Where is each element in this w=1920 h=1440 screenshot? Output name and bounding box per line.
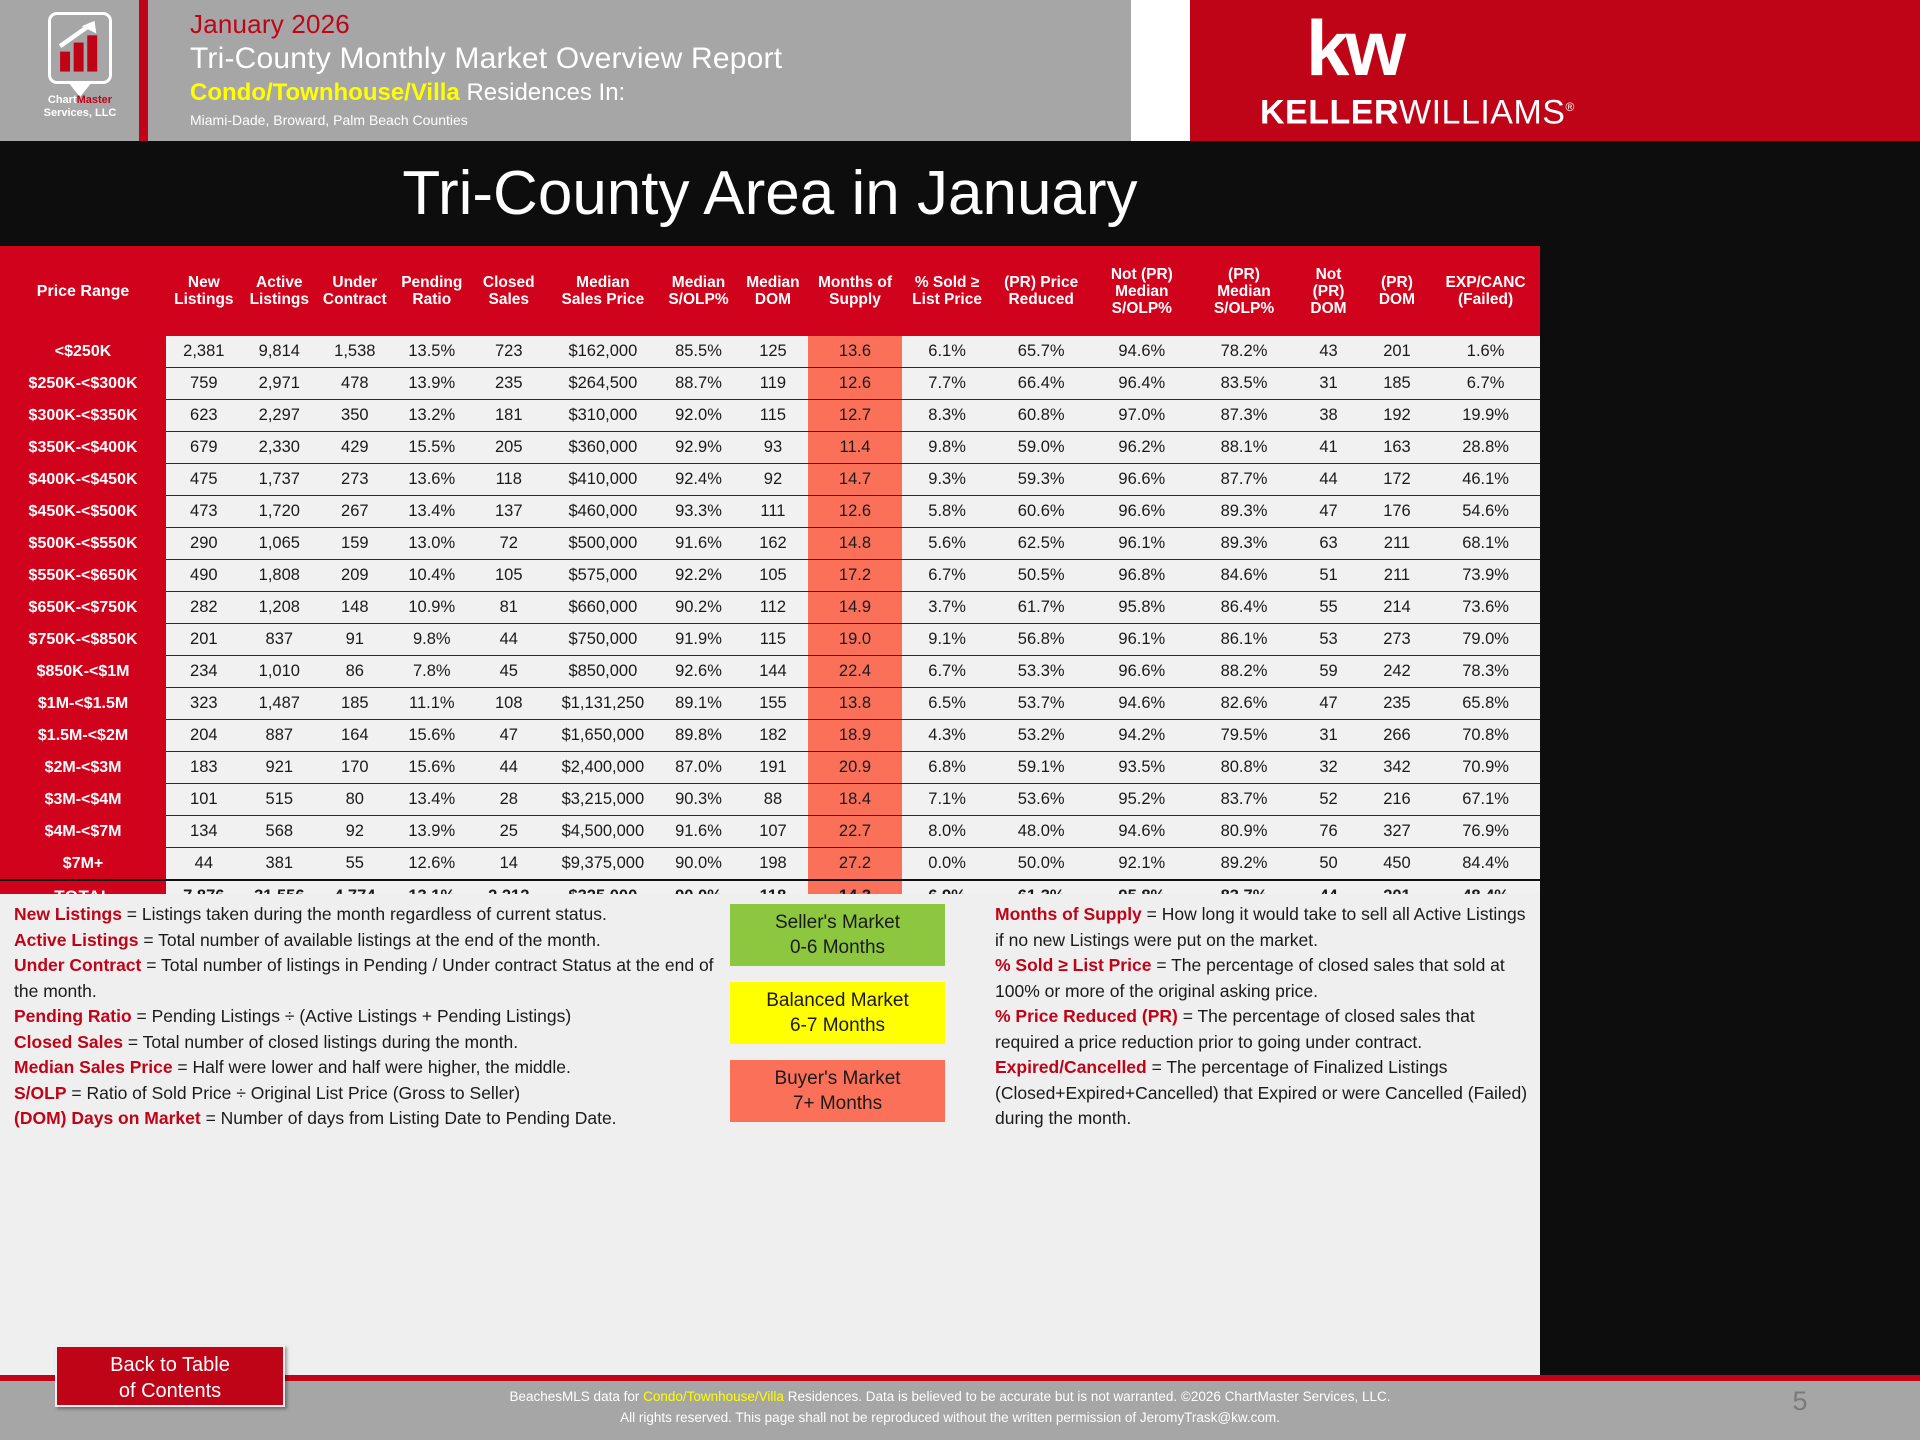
data-cell: 43 bbox=[1294, 336, 1362, 368]
hdr-l1: (PR) Price bbox=[1004, 274, 1078, 291]
legend-left-term: New Listings bbox=[14, 904, 122, 924]
table-row: $3M-<$4M1015158013.4%28$3,215,00090.3%88… bbox=[0, 784, 1540, 816]
data-cell: 350 bbox=[317, 400, 392, 432]
hdr-l1: % Sold ≥ bbox=[915, 274, 979, 291]
table-row: $250K-<$300K7592,97147813.9%235$264,5008… bbox=[0, 368, 1540, 400]
data-cell: 31 bbox=[1294, 720, 1362, 752]
legend-left-item: Under Contract = Total number of listing… bbox=[14, 953, 714, 1004]
data-cell: 13.9% bbox=[393, 816, 472, 848]
data-cell: 13.0% bbox=[393, 528, 472, 560]
price-range-cell: $850K-<$1M bbox=[0, 656, 166, 688]
data-cell: 88.1% bbox=[1194, 432, 1295, 464]
months-of-supply-cell: 22.7 bbox=[808, 816, 902, 848]
data-cell: 89.3% bbox=[1194, 528, 1295, 560]
data-cell: 83.7% bbox=[1194, 784, 1295, 816]
data-cell: 759 bbox=[166, 368, 241, 400]
data-cell: 87.0% bbox=[659, 752, 738, 784]
months-of-supply-cell: 17.2 bbox=[808, 560, 902, 592]
data-cell: 80 bbox=[317, 784, 392, 816]
data-cell: 5.8% bbox=[902, 496, 993, 528]
data-cell: 115 bbox=[738, 624, 808, 656]
kw-monogram: kw bbox=[1306, 8, 1402, 88]
data-cell: 10.9% bbox=[393, 592, 472, 624]
price-range-cell: $350K-<$400K bbox=[0, 432, 166, 464]
data-cell: 0.0% bbox=[902, 848, 993, 881]
hdr-l1: (PR) bbox=[1381, 274, 1413, 291]
data-cell: 73.6% bbox=[1431, 592, 1540, 624]
col-header-exp-canc[interactable]: EXP/CANC(Failed) bbox=[1431, 246, 1540, 336]
price-range-cell: $550K-<$650K bbox=[0, 560, 166, 592]
data-cell: 70.8% bbox=[1431, 720, 1540, 752]
legend-definitions-left: New Listings = Listings taken during the… bbox=[14, 902, 714, 1132]
hdr-l1: Under bbox=[332, 274, 377, 291]
data-cell: 473 bbox=[166, 496, 241, 528]
data-cell: 6.7% bbox=[902, 560, 993, 592]
data-cell: 1,208 bbox=[242, 592, 317, 624]
table-row: $350K-<$400K6792,33042915.5%205$360,0009… bbox=[0, 432, 1540, 464]
data-cell: 88.7% bbox=[659, 368, 738, 400]
price-range-cell: $2M-<$3M bbox=[0, 752, 166, 784]
data-cell: 10.4% bbox=[393, 560, 472, 592]
table-row: $4M-<$7M1345689213.9%25$4,500,00091.6%10… bbox=[0, 816, 1540, 848]
data-cell: 1,720 bbox=[242, 496, 317, 528]
data-cell: 211 bbox=[1363, 560, 1431, 592]
data-cell: $575,000 bbox=[547, 560, 660, 592]
data-cell: $1,131,250 bbox=[547, 688, 660, 720]
banner-title: Tri-County Area in January bbox=[0, 141, 1540, 246]
data-cell: 3.7% bbox=[902, 592, 993, 624]
table-row: $500K-<$550K2901,06515913.0%72$500,00091… bbox=[0, 528, 1540, 560]
table-row: $400K-<$450K4751,73727313.6%118$410,0009… bbox=[0, 464, 1540, 496]
table-row: $7M+443815512.6%14$9,375,00090.0%19827.2… bbox=[0, 848, 1540, 881]
data-cell: 92.4% bbox=[659, 464, 738, 496]
data-cell: 94.2% bbox=[1090, 720, 1194, 752]
data-cell: 78.3% bbox=[1431, 656, 1540, 688]
hdr-l1: Median bbox=[746, 274, 799, 291]
data-cell: 60.8% bbox=[992, 400, 1090, 432]
page-number: 5 bbox=[1770, 1386, 1830, 1417]
data-cell: 216 bbox=[1363, 784, 1431, 816]
balanced-market-box: Balanced Market 6-7 Months bbox=[730, 982, 945, 1044]
legend-left-term: (DOM) Days on Market bbox=[14, 1108, 201, 1128]
data-cell: 185 bbox=[1363, 368, 1431, 400]
hdr-l1: (PR) bbox=[1228, 266, 1260, 283]
data-cell: 89.8% bbox=[659, 720, 738, 752]
data-cell: 82.6% bbox=[1194, 688, 1295, 720]
data-cell: 92.9% bbox=[659, 432, 738, 464]
data-cell: 164 bbox=[317, 720, 392, 752]
data-cell: 1,065 bbox=[242, 528, 317, 560]
months-of-supply-cell: 12.7 bbox=[808, 400, 902, 432]
hdr-l2: Sales Price bbox=[562, 291, 645, 308]
data-cell: 205 bbox=[471, 432, 546, 464]
data-cell: $9,375,000 bbox=[547, 848, 660, 881]
report-subtitle: Condo/Townhouse/Villa Residences In: bbox=[190, 78, 782, 108]
data-cell: 89.3% bbox=[1194, 496, 1295, 528]
data-cell: 13.9% bbox=[393, 368, 472, 400]
data-cell: 86.1% bbox=[1194, 624, 1295, 656]
price-range-cell: $4M-<$7M bbox=[0, 816, 166, 848]
data-cell: 95.8% bbox=[1090, 592, 1194, 624]
hdr-l2: (PR) bbox=[1313, 283, 1345, 300]
data-cell: 6.5% bbox=[902, 688, 993, 720]
hdr-l2: Listings bbox=[174, 291, 233, 308]
data-cell: 73.9% bbox=[1431, 560, 1540, 592]
data-cell: 13.4% bbox=[393, 784, 472, 816]
data-cell: 84.6% bbox=[1194, 560, 1295, 592]
data-cell: 105 bbox=[471, 560, 546, 592]
data-cell: 8.0% bbox=[902, 816, 993, 848]
data-cell: 97.0% bbox=[1090, 400, 1194, 432]
data-cell: 723 bbox=[471, 336, 546, 368]
footer-disclaimer: BeachesMLS data for Condo/Townhouse/Vill… bbox=[320, 1386, 1580, 1428]
data-cell: 134 bbox=[166, 816, 241, 848]
legend-left-definition: = Half were lower and half were higher, … bbox=[173, 1057, 571, 1077]
price-range-cell: $3M-<$4M bbox=[0, 784, 166, 816]
page-header: ChartMaster Services, LLC January 2026 T… bbox=[0, 0, 1920, 141]
col-header-price-range[interactable]: Price Range bbox=[0, 246, 166, 336]
data-cell: 53.2% bbox=[992, 720, 1090, 752]
hdr-l2: Listings bbox=[250, 291, 309, 308]
months-of-supply-cell: 13.8 bbox=[808, 688, 902, 720]
data-cell: 4.3% bbox=[902, 720, 993, 752]
data-cell: 92.0% bbox=[659, 400, 738, 432]
sellers-market-label: Seller's Market bbox=[730, 910, 945, 935]
col-header-pr-median-solp[interactable]: (PR)MedianS/OLP% bbox=[1194, 246, 1295, 336]
data-cell: 44 bbox=[1294, 464, 1362, 496]
data-cell: 137 bbox=[471, 496, 546, 528]
data-cell: 65.7% bbox=[992, 336, 1090, 368]
legend-right-item: % Sold ≥ List Price = The percentage of … bbox=[995, 953, 1535, 1004]
data-cell: 679 bbox=[166, 432, 241, 464]
table-body: <$250K2,3819,8141,53813.5%723$162,00085.… bbox=[0, 336, 1540, 912]
kw-wordmark: KELLERWILLIAMS® bbox=[1260, 88, 1575, 131]
table-row: $750K-<$850K201837919.8%44$750,00091.9%1… bbox=[0, 624, 1540, 656]
legend-right-term: % Price Reduced (PR) bbox=[995, 1006, 1178, 1026]
hdr-l1: Months of bbox=[818, 274, 892, 291]
subtitle-rest: Residences In: bbox=[460, 79, 625, 106]
data-cell: 1,538 bbox=[317, 336, 392, 368]
data-cell: 9,814 bbox=[242, 336, 317, 368]
table-row: $850K-<$1M2341,010867.8%45$850,00092.6%1… bbox=[0, 656, 1540, 688]
data-cell: 47 bbox=[471, 720, 546, 752]
data-cell: 88 bbox=[738, 784, 808, 816]
data-cell: 201 bbox=[166, 624, 241, 656]
data-cell: 887 bbox=[242, 720, 317, 752]
data-cell: 90.2% bbox=[659, 592, 738, 624]
kw-williams: WILLIAMS bbox=[1399, 93, 1565, 131]
data-cell: 234 bbox=[166, 656, 241, 688]
col-header-under-contract[interactable]: UnderContract bbox=[317, 246, 392, 336]
legend-left-definition: = Ratio of Sold Price ÷ Original List Pr… bbox=[67, 1083, 521, 1103]
col-header-median-sales-price[interactable]: MedianSales Price bbox=[547, 246, 660, 336]
data-cell: 13.6% bbox=[393, 464, 472, 496]
col-header-median-solp[interactable]: MedianS/OLP% bbox=[659, 246, 738, 336]
data-cell: 201 bbox=[1363, 336, 1431, 368]
data-cell: 91.9% bbox=[659, 624, 738, 656]
data-cell: 381 bbox=[242, 848, 317, 881]
table-row: $550K-<$650K4901,80820910.4%105$575,0009… bbox=[0, 560, 1540, 592]
data-cell: $660,000 bbox=[547, 592, 660, 624]
col-header-active-listings[interactable]: ActiveListings bbox=[242, 246, 317, 336]
legend-left-term: S/OLP bbox=[14, 1083, 67, 1103]
back-to-table-of-contents-button[interactable]: Back to Table of Contents bbox=[55, 1345, 285, 1407]
legend-left-item: Pending Ratio = Pending Listings ÷ (Acti… bbox=[14, 1004, 714, 1030]
table-row: $1.5M-<$2M20488716415.6%47$1,650,00089.8… bbox=[0, 720, 1540, 752]
legend-left-item: Closed Sales = Total number of closed li… bbox=[14, 1030, 714, 1056]
data-cell: 91 bbox=[317, 624, 392, 656]
data-cell: $460,000 bbox=[547, 496, 660, 528]
col-header-not-pr-dom[interactable]: Not(PR)DOM bbox=[1294, 246, 1362, 336]
data-cell: 211 bbox=[1363, 528, 1431, 560]
legend-left-term: Median Sales Price bbox=[14, 1057, 173, 1077]
counties-line: Miami-Dade, Broward, Palm Beach Counties bbox=[190, 108, 782, 130]
col-header-pr-dom[interactable]: (PR)DOM bbox=[1363, 246, 1431, 336]
data-cell: 38 bbox=[1294, 400, 1362, 432]
data-cell: 11.1% bbox=[393, 688, 472, 720]
logo-wordmark: ChartMaster Services, LLC bbox=[26, 94, 134, 120]
data-cell: 25 bbox=[471, 816, 546, 848]
data-cell: 108 bbox=[471, 688, 546, 720]
footer-pre: BeachesMLS data for bbox=[510, 1389, 644, 1404]
data-cell: 181 bbox=[471, 400, 546, 432]
price-range-cell: $300K-<$350K bbox=[0, 400, 166, 432]
data-cell: 107 bbox=[738, 816, 808, 848]
data-cell: 568 bbox=[242, 816, 317, 848]
data-cell: 13.2% bbox=[393, 400, 472, 432]
data-cell: 118 bbox=[471, 464, 546, 496]
legend-left-definition: = Number of days from Listing Date to Pe… bbox=[201, 1108, 617, 1128]
price-range-cell: $400K-<$450K bbox=[0, 464, 166, 496]
logo-word-master: Master bbox=[77, 94, 112, 106]
data-cell: 81 bbox=[471, 592, 546, 624]
months-of-supply-cell: 11.4 bbox=[808, 432, 902, 464]
data-cell: 45 bbox=[471, 656, 546, 688]
months-of-supply-cell: 20.9 bbox=[808, 752, 902, 784]
data-cell: 46.1% bbox=[1431, 464, 1540, 496]
data-cell: 93.5% bbox=[1090, 752, 1194, 784]
months-of-supply-cell: 18.4 bbox=[808, 784, 902, 816]
hdr-l2: Median bbox=[1217, 283, 1270, 300]
data-cell: 111 bbox=[738, 496, 808, 528]
price-range-cell: $1M-<$1.5M bbox=[0, 688, 166, 720]
data-cell: 55 bbox=[1294, 592, 1362, 624]
price-range-cell: $7M+ bbox=[0, 848, 166, 881]
col-header-pct-sold-ge-list[interactable]: % Sold ≥List Price bbox=[902, 246, 993, 336]
data-cell: 204 bbox=[166, 720, 241, 752]
data-cell: 342 bbox=[1363, 752, 1431, 784]
data-cell: 96.6% bbox=[1090, 496, 1194, 528]
col-header-closed-sales[interactable]: ClosedSales bbox=[471, 246, 546, 336]
data-cell: 163 bbox=[1363, 432, 1431, 464]
data-cell: 96.2% bbox=[1090, 432, 1194, 464]
data-cell: 13.4% bbox=[393, 496, 472, 528]
col-header-pending-ratio[interactable]: PendingRatio bbox=[393, 246, 472, 336]
data-cell: 31 bbox=[1294, 368, 1362, 400]
data-cell: 172 bbox=[1363, 464, 1431, 496]
data-cell: 89.2% bbox=[1194, 848, 1295, 881]
hdr-l1: Pending bbox=[401, 274, 462, 291]
hdr-l2: DOM bbox=[1379, 291, 1415, 308]
data-cell: 19.9% bbox=[1431, 400, 1540, 432]
data-cell: 96.4% bbox=[1090, 368, 1194, 400]
data-cell: 6.1% bbox=[902, 336, 993, 368]
back-button-line1: Back to Table bbox=[57, 1352, 283, 1378]
data-cell: 191 bbox=[738, 752, 808, 784]
buyers-market-label: Buyer's Market bbox=[730, 1066, 945, 1091]
table-row: <$250K2,3819,8141,53813.5%723$162,00085.… bbox=[0, 336, 1540, 368]
data-cell: 78.2% bbox=[1194, 336, 1295, 368]
legend-left-item: New Listings = Listings taken during the… bbox=[14, 902, 714, 928]
data-cell: 63 bbox=[1294, 528, 1362, 560]
data-cell: 921 bbox=[242, 752, 317, 784]
months-of-supply-cell: 19.0 bbox=[808, 624, 902, 656]
legend-left-item: Active Listings = Total number of availa… bbox=[14, 928, 714, 954]
col-header-new-listings[interactable]: NewListings bbox=[166, 246, 241, 336]
data-cell: 41 bbox=[1294, 432, 1362, 464]
legend-left-definition: = Pending Listings ÷ (Active Listings + … bbox=[132, 1006, 572, 1026]
legend-right-item: Months of Supply = How long it would tak… bbox=[995, 902, 1535, 953]
data-cell: 90.0% bbox=[659, 848, 738, 881]
months-of-supply-cell: 12.6 bbox=[808, 368, 902, 400]
logo-word-chart: Chart bbox=[48, 94, 77, 106]
data-cell: 185 bbox=[317, 688, 392, 720]
hdr-l1: Not bbox=[1316, 266, 1342, 283]
data-cell: 80.8% bbox=[1194, 752, 1295, 784]
data-cell: 59.0% bbox=[992, 432, 1090, 464]
data-cell: 47 bbox=[1294, 688, 1362, 720]
data-cell: 48.0% bbox=[992, 816, 1090, 848]
sellers-market-box: Seller's Market 0-6 Months bbox=[730, 904, 945, 966]
data-cell: 65.8% bbox=[1431, 688, 1540, 720]
legend-left-definition: = Total number of available listings at … bbox=[138, 930, 600, 950]
hdr-l2: List Price bbox=[912, 291, 982, 308]
price-range-cell: $1.5M-<$2M bbox=[0, 720, 166, 752]
data-cell: 125 bbox=[738, 336, 808, 368]
legend-left-term: Pending Ratio bbox=[14, 1006, 132, 1026]
data-cell: 9.3% bbox=[902, 464, 993, 496]
balanced-market-label: Balanced Market bbox=[730, 988, 945, 1013]
data-cell: 837 bbox=[242, 624, 317, 656]
legend-section: New Listings = Listings taken during the… bbox=[0, 894, 1540, 1340]
data-cell: 7.8% bbox=[393, 656, 472, 688]
table-row: $300K-<$350K6232,29735013.2%181$310,0009… bbox=[0, 400, 1540, 432]
data-cell: 112 bbox=[738, 592, 808, 624]
data-cell: 83.5% bbox=[1194, 368, 1295, 400]
data-cell: 13.5% bbox=[393, 336, 472, 368]
data-cell: 96.1% bbox=[1090, 528, 1194, 560]
data-cell: 9.8% bbox=[902, 432, 993, 464]
table-row: $450K-<$500K4731,72026713.4%137$460,0009… bbox=[0, 496, 1540, 528]
data-cell: 72 bbox=[471, 528, 546, 560]
data-cell: 266 bbox=[1363, 720, 1431, 752]
legend-left-item: (DOM) Days on Market = Number of days fr… bbox=[14, 1106, 714, 1132]
data-cell: 86.4% bbox=[1194, 592, 1295, 624]
months-of-supply-cell: 14.8 bbox=[808, 528, 902, 560]
data-cell: $310,000 bbox=[547, 400, 660, 432]
kw-keller: KELLER bbox=[1260, 93, 1399, 131]
data-cell: 623 bbox=[166, 400, 241, 432]
data-cell: 59.1% bbox=[992, 752, 1090, 784]
data-cell: 214 bbox=[1363, 592, 1431, 624]
data-cell: 15.5% bbox=[393, 432, 472, 464]
data-cell: 9.8% bbox=[393, 624, 472, 656]
data-cell: 93.3% bbox=[659, 496, 738, 528]
hdr-l1: Active bbox=[256, 274, 303, 291]
kw-registered-mark: ® bbox=[1565, 100, 1574, 114]
col-header-pr-price-reduced[interactable]: (PR) PriceReduced bbox=[992, 246, 1090, 336]
hdr-l2: S/OLP% bbox=[668, 291, 728, 308]
data-cell: 1.6% bbox=[1431, 336, 1540, 368]
data-cell: $264,500 bbox=[547, 368, 660, 400]
data-cell: 475 bbox=[166, 464, 241, 496]
data-cell: 144 bbox=[738, 656, 808, 688]
data-cell: 28.8% bbox=[1431, 432, 1540, 464]
data-cell: 2,330 bbox=[242, 432, 317, 464]
data-cell: $500,000 bbox=[547, 528, 660, 560]
price-range-cell: $500K-<$550K bbox=[0, 528, 166, 560]
data-cell: 50 bbox=[1294, 848, 1362, 881]
data-cell: 91.6% bbox=[659, 528, 738, 560]
market-overview-table: Price Range NewListings ActiveListings U… bbox=[0, 246, 1540, 912]
data-cell: 450 bbox=[1363, 848, 1431, 881]
data-cell: 1,737 bbox=[242, 464, 317, 496]
col-header-months-of-supply[interactable]: Months ofSupply bbox=[808, 246, 902, 336]
data-cell: 79.0% bbox=[1431, 624, 1540, 656]
header-text-block: January 2026 Tri-County Monthly Market O… bbox=[190, 8, 782, 130]
data-cell: 170 bbox=[317, 752, 392, 784]
report-title: Tri-County Monthly Market Overview Repor… bbox=[190, 40, 782, 78]
data-cell: 183 bbox=[166, 752, 241, 784]
hdr-l1: Closed bbox=[483, 274, 535, 291]
data-cell: 162 bbox=[738, 528, 808, 560]
footer-property-type: Condo/Townhouse/Villa bbox=[643, 1389, 784, 1404]
hdr-l3: DOM bbox=[1310, 300, 1346, 317]
data-cell: 1,808 bbox=[242, 560, 317, 592]
legend-right-term: Expired/Cancelled bbox=[995, 1057, 1147, 1077]
months-of-supply-cell: 14.9 bbox=[808, 592, 902, 624]
data-cell: $850,000 bbox=[547, 656, 660, 688]
data-cell: 6.7% bbox=[1431, 368, 1540, 400]
data-cell: 115 bbox=[738, 400, 808, 432]
data-cell: 95.2% bbox=[1090, 784, 1194, 816]
data-cell: 478 bbox=[317, 368, 392, 400]
data-cell: 94.6% bbox=[1090, 816, 1194, 848]
data-cell: 51 bbox=[1294, 560, 1362, 592]
market-type-legend: Seller's Market 0-6 Months Balanced Mark… bbox=[730, 904, 945, 1138]
data-cell: 2,971 bbox=[242, 368, 317, 400]
data-cell: 87.7% bbox=[1194, 464, 1295, 496]
data-cell: 76 bbox=[1294, 816, 1362, 848]
legend-right-item: Expired/Cancelled = The percentage of Fi… bbox=[995, 1055, 1535, 1132]
data-cell: 7.7% bbox=[902, 368, 993, 400]
data-cell: 85.5% bbox=[659, 336, 738, 368]
col-header-not-pr-median-solp[interactable]: Not (PR)MedianS/OLP% bbox=[1090, 246, 1194, 336]
data-cell: 490 bbox=[166, 560, 241, 592]
hdr-l2: Median bbox=[1115, 283, 1168, 300]
data-cell: 429 bbox=[317, 432, 392, 464]
table-row: $650K-<$750K2821,20814810.9%81$660,00090… bbox=[0, 592, 1540, 624]
data-cell: $1,650,000 bbox=[547, 720, 660, 752]
data-cell: $4,500,000 bbox=[547, 816, 660, 848]
data-cell: 94.6% bbox=[1090, 688, 1194, 720]
col-header-median-dom[interactable]: MedianDOM bbox=[738, 246, 808, 336]
data-cell: 60.6% bbox=[992, 496, 1090, 528]
data-cell: 92 bbox=[738, 464, 808, 496]
data-cell: 76.9% bbox=[1431, 816, 1540, 848]
data-cell: 93 bbox=[738, 432, 808, 464]
data-cell: 53.7% bbox=[992, 688, 1090, 720]
